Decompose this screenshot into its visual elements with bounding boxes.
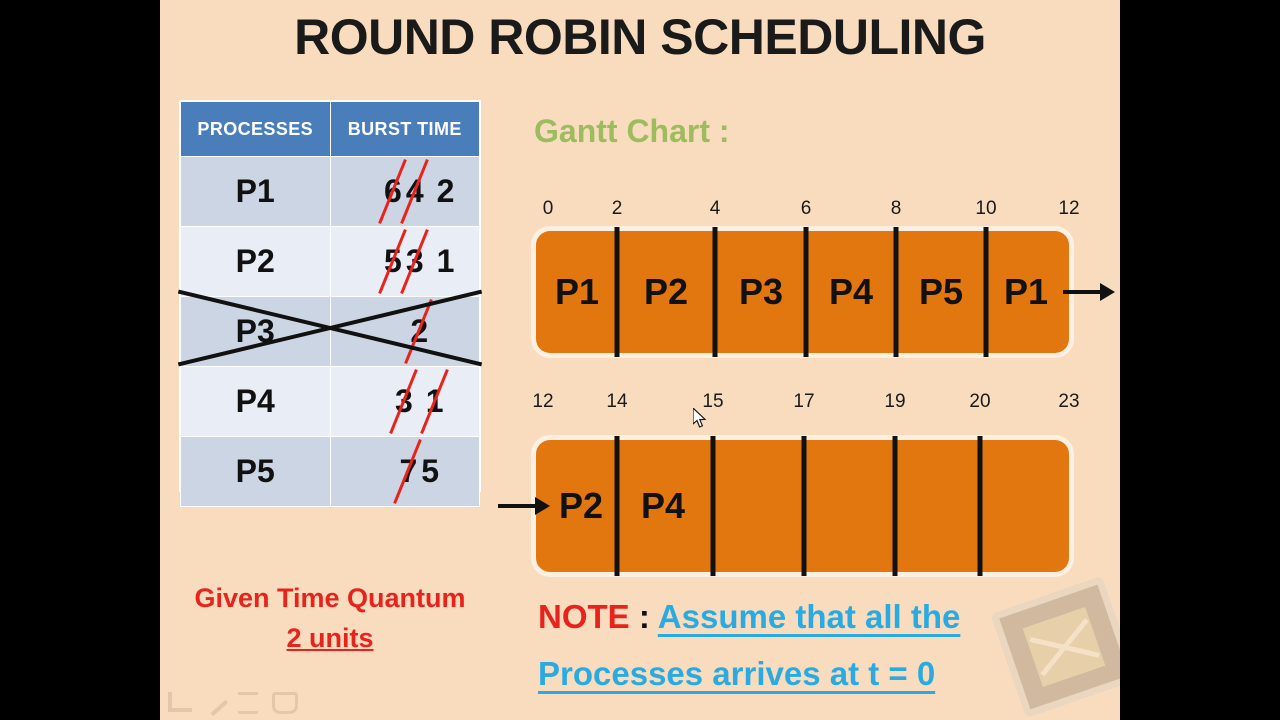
gantt-segment-label: P4 [641, 485, 685, 527]
letterbox-left [0, 0, 160, 720]
note-line-2: Processes arrives at t = 0 [538, 645, 1098, 702]
gantt-divider [711, 436, 716, 576]
axis-tick-label: 8 [891, 198, 902, 220]
page-title: ROUND ROBIN SCHEDULING [160, 8, 1120, 66]
axis-tick-label: 0 [543, 198, 554, 220]
column-header-burst-time: BURST TIME [330, 102, 480, 157]
slide-canvas: ROUND ROBIN SCHEDULING PROCESSES BURST T… [160, 0, 1120, 720]
gantt-segment-label: P1 [555, 271, 599, 313]
gantt-row1-bar: P1 P2 P3 P4 P5 P1 [536, 231, 1069, 353]
axis-tick-label: 23 [1058, 391, 1079, 413]
note-keyword: NOTE [538, 598, 630, 635]
cell-burst-time: 31 [330, 367, 480, 437]
gantt-divider [984, 227, 989, 357]
axis-tick-label: 2 [612, 198, 623, 220]
axis-tick-label: 19 [884, 391, 905, 413]
burst-value-struck: 3 [404, 243, 426, 280]
note-line-1: NOTE : Assume that all the [538, 588, 1098, 645]
letterbox-right [1120, 0, 1280, 720]
gantt-segment-label: P4 [829, 271, 873, 313]
axis-tick-label: 20 [969, 391, 990, 413]
time-quantum-note: Given Time Quantum 2 units [160, 578, 500, 658]
note-body-line2: Processes arrives at t = 0 [538, 655, 935, 692]
gantt-segment-label: P5 [919, 271, 963, 313]
gantt-divider [802, 436, 807, 576]
menu-icon [238, 692, 258, 714]
burst-value-struck: 2 [408, 313, 430, 350]
cell-process-name: P2 [181, 227, 331, 297]
burst-value-struck: 5 [382, 243, 404, 280]
gantt-chart-label: Gantt Chart : [534, 113, 730, 150]
undo-icon [168, 692, 192, 712]
cell-process-name: P3 [181, 297, 331, 367]
cell-process-name: P5 [181, 437, 331, 507]
note-colon: : [630, 598, 658, 635]
burst-value-current: 2 [435, 173, 457, 210]
table-header-row: PROCESSES BURST TIME [181, 102, 480, 157]
eraser-icon [272, 692, 298, 714]
axis-tick-label: 15 [702, 391, 723, 413]
gantt-divider [978, 436, 983, 576]
gantt-divider [713, 227, 718, 357]
gantt-row2-axis: 12 14 15 17 19 20 23 [534, 391, 1074, 417]
axis-tick-label: 12 [1058, 198, 1079, 220]
burst-value-struck: 3 [393, 383, 415, 420]
gantt-divider [804, 227, 809, 357]
column-header-processes: PROCESSES [181, 102, 331, 157]
table-row: P3 2 [181, 297, 480, 367]
gantt-segment-label: P3 [739, 271, 783, 313]
pen-icon [200, 688, 228, 716]
burst-value-struck: 6 [382, 173, 404, 210]
gantt-divider [893, 436, 898, 576]
time-quantum-line1: Given Time Quantum [160, 578, 500, 618]
axis-tick-label: 14 [606, 391, 627, 413]
gantt-divider [615, 227, 620, 357]
gantt-divider [615, 436, 620, 576]
gantt-segment-label: P2 [559, 485, 603, 527]
gantt-divider [894, 227, 899, 357]
axis-tick-label: 12 [532, 391, 553, 413]
cell-burst-time: 75 [330, 437, 480, 507]
burst-value-current: 5 [419, 453, 441, 490]
cell-burst-time: 531 [330, 227, 480, 297]
table-row: P4 31 [181, 367, 480, 437]
note-block: NOTE : Assume that all the Processes arr… [538, 588, 1098, 702]
burst-value-struck: 1 [424, 383, 446, 420]
gantt-row1-axis: 0 2 4 6 8 10 12 [534, 198, 1074, 224]
axis-tick-label: 6 [801, 198, 812, 220]
gantt-continuation-arrow-left [498, 496, 550, 516]
cell-burst-time: 642 [330, 157, 480, 227]
table-row: P1 642 [181, 157, 480, 227]
burst-value-current: 1 [435, 243, 457, 280]
burst-value-struck: 4 [404, 173, 426, 210]
cell-process-name: P1 [181, 157, 331, 227]
process-table: PROCESSES BURST TIME P1 642 P2 [179, 100, 481, 492]
table-row: P2 531 [181, 227, 480, 297]
axis-tick-label: 4 [710, 198, 721, 220]
gantt-continuation-arrow-right [1063, 282, 1115, 302]
table-row: P5 75 [181, 437, 480, 507]
time-quantum-line2: 2 units [160, 618, 500, 658]
cell-process-name: P4 [181, 367, 331, 437]
note-body-line1: Assume that all the [658, 598, 961, 635]
cell-burst-time: 2 [330, 297, 480, 367]
gantt-segment-label: P1 [1004, 271, 1048, 313]
burst-value-struck: 7 [397, 453, 419, 490]
gantt-segment-label: P2 [644, 271, 688, 313]
axis-tick-label: 17 [793, 391, 814, 413]
axis-tick-label: 10 [975, 198, 996, 220]
gantt-row2-bar: P2 P4 [536, 440, 1069, 572]
faint-toolbar [168, 690, 298, 712]
